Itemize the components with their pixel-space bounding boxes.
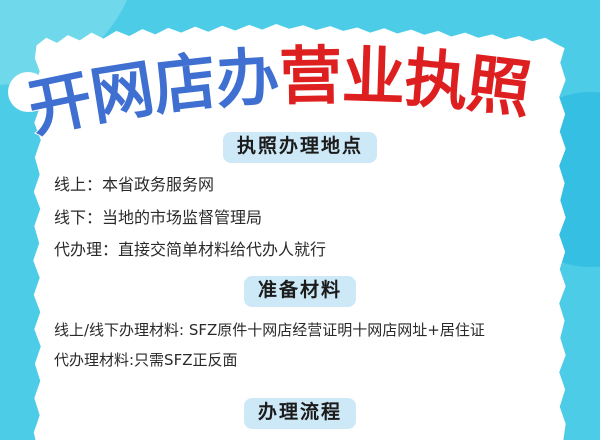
section-heading-badge-materials: 准备材料 xyxy=(244,276,356,307)
section-lines-location: 线上：本省政务服务网 线下：当地的市场监督管理局 代办理：直接交简单材料给代办人… xyxy=(54,176,326,274)
body-line: 线上/线下办理材料: SFZ原件十网店经营证明十网店网址+居住证 xyxy=(54,322,485,339)
section-heading-location: 执照办理地点 xyxy=(30,132,570,163)
section-heading-process: 办理流程 xyxy=(30,398,570,429)
body-line: 代办理：直接交简单材料给代办人就行 xyxy=(54,241,326,259)
section-heading-materials: 准备材料 xyxy=(30,276,570,307)
section-heading-badge-location: 执照办理地点 xyxy=(223,132,377,163)
body-line: 线上：本省政务服务网 xyxy=(54,176,326,194)
poster-canvas: 开网店办营业执照 执照办理地点 线上：本省政务服务网 线下：当地的市场监督管理局… xyxy=(0,0,600,440)
body-line: 线下：当地的市场监督管理局 xyxy=(54,209,326,227)
content-area: 执照办理地点 线上：本省政务服务网 线下：当地的市场监督管理局 代办理：直接交简… xyxy=(30,24,570,440)
section-lines-materials: 线上/线下办理材料: SFZ原件十网店经营证明十网店网址+居住证 代办理材料:只… xyxy=(54,322,485,381)
body-line: 代办理材料:只需SFZ正反面 xyxy=(54,352,485,369)
section-heading-badge-process: 办理流程 xyxy=(244,398,356,429)
